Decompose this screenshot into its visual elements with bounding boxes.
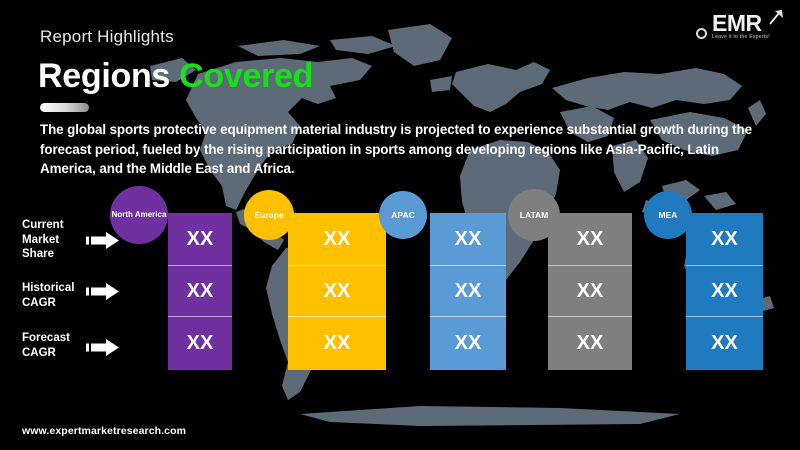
cell-apac-row3: XX — [430, 316, 506, 370]
cell-europe-row3: XX — [288, 316, 386, 370]
footer-website: www.expertmarketresearch.com — [22, 425, 186, 437]
cell-europe-row1: XX — [288, 213, 386, 265]
logo-wordmark: EMR — [712, 10, 762, 37]
row-label-3: Forecast CAGR — [22, 331, 84, 360]
logo-tagline: Leave it to the Experts! — [712, 34, 770, 40]
cell-latam-row3: XX — [548, 316, 632, 370]
region-bubble-latam[interactable]: LATAM — [508, 189, 560, 241]
kicker-text: Report Highlights — [40, 27, 174, 47]
cell-latam-row2: XX — [548, 265, 632, 316]
logo-ring-icon — [696, 28, 707, 39]
row-label-1: Current Market Share — [22, 218, 84, 262]
page-title: Regions Covered — [38, 57, 313, 96]
cell-north-america-row1: XX — [168, 213, 232, 265]
cell-mea-row2: XX — [686, 265, 763, 316]
cell-mea-row1: XX — [686, 213, 763, 265]
row-arrow-icon-3 — [86, 338, 120, 357]
region-bubble-north-america[interactable]: North America — [110, 186, 168, 244]
cell-apac-row2: XX — [430, 265, 506, 316]
cell-latam-row1: XX — [548, 213, 632, 265]
cell-apac-row1: XX — [430, 213, 506, 265]
region-bubble-europe[interactable]: Europe — [244, 190, 294, 240]
row-arrow-icon-2 — [86, 282, 120, 301]
cell-north-america-row2: XX — [168, 265, 232, 316]
page-title-main: Regions — [38, 57, 179, 95]
logo-arrow-icon — [768, 8, 784, 26]
region-bubble-mea[interactable]: MEA — [644, 191, 692, 239]
cell-europe-row2: XX — [288, 265, 386, 316]
cell-north-america-row3: XX — [168, 316, 232, 370]
region-bubble-apac[interactable]: APAC — [379, 191, 427, 239]
page-title-accent: Covered — [179, 57, 313, 95]
intro-paragraph: The global sports protective equipment m… — [40, 120, 776, 179]
emr-logo: EMR Leave it to the Experts! — [694, 8, 786, 48]
cell-mea-row3: XX — [686, 316, 763, 370]
row-arrow-icon-1 — [86, 231, 120, 250]
title-underline-bar — [40, 103, 89, 112]
row-label-2: Historical CAGR — [22, 281, 84, 310]
slide-canvas: EMR Leave it to the Experts! Report High… — [0, 0, 800, 450]
